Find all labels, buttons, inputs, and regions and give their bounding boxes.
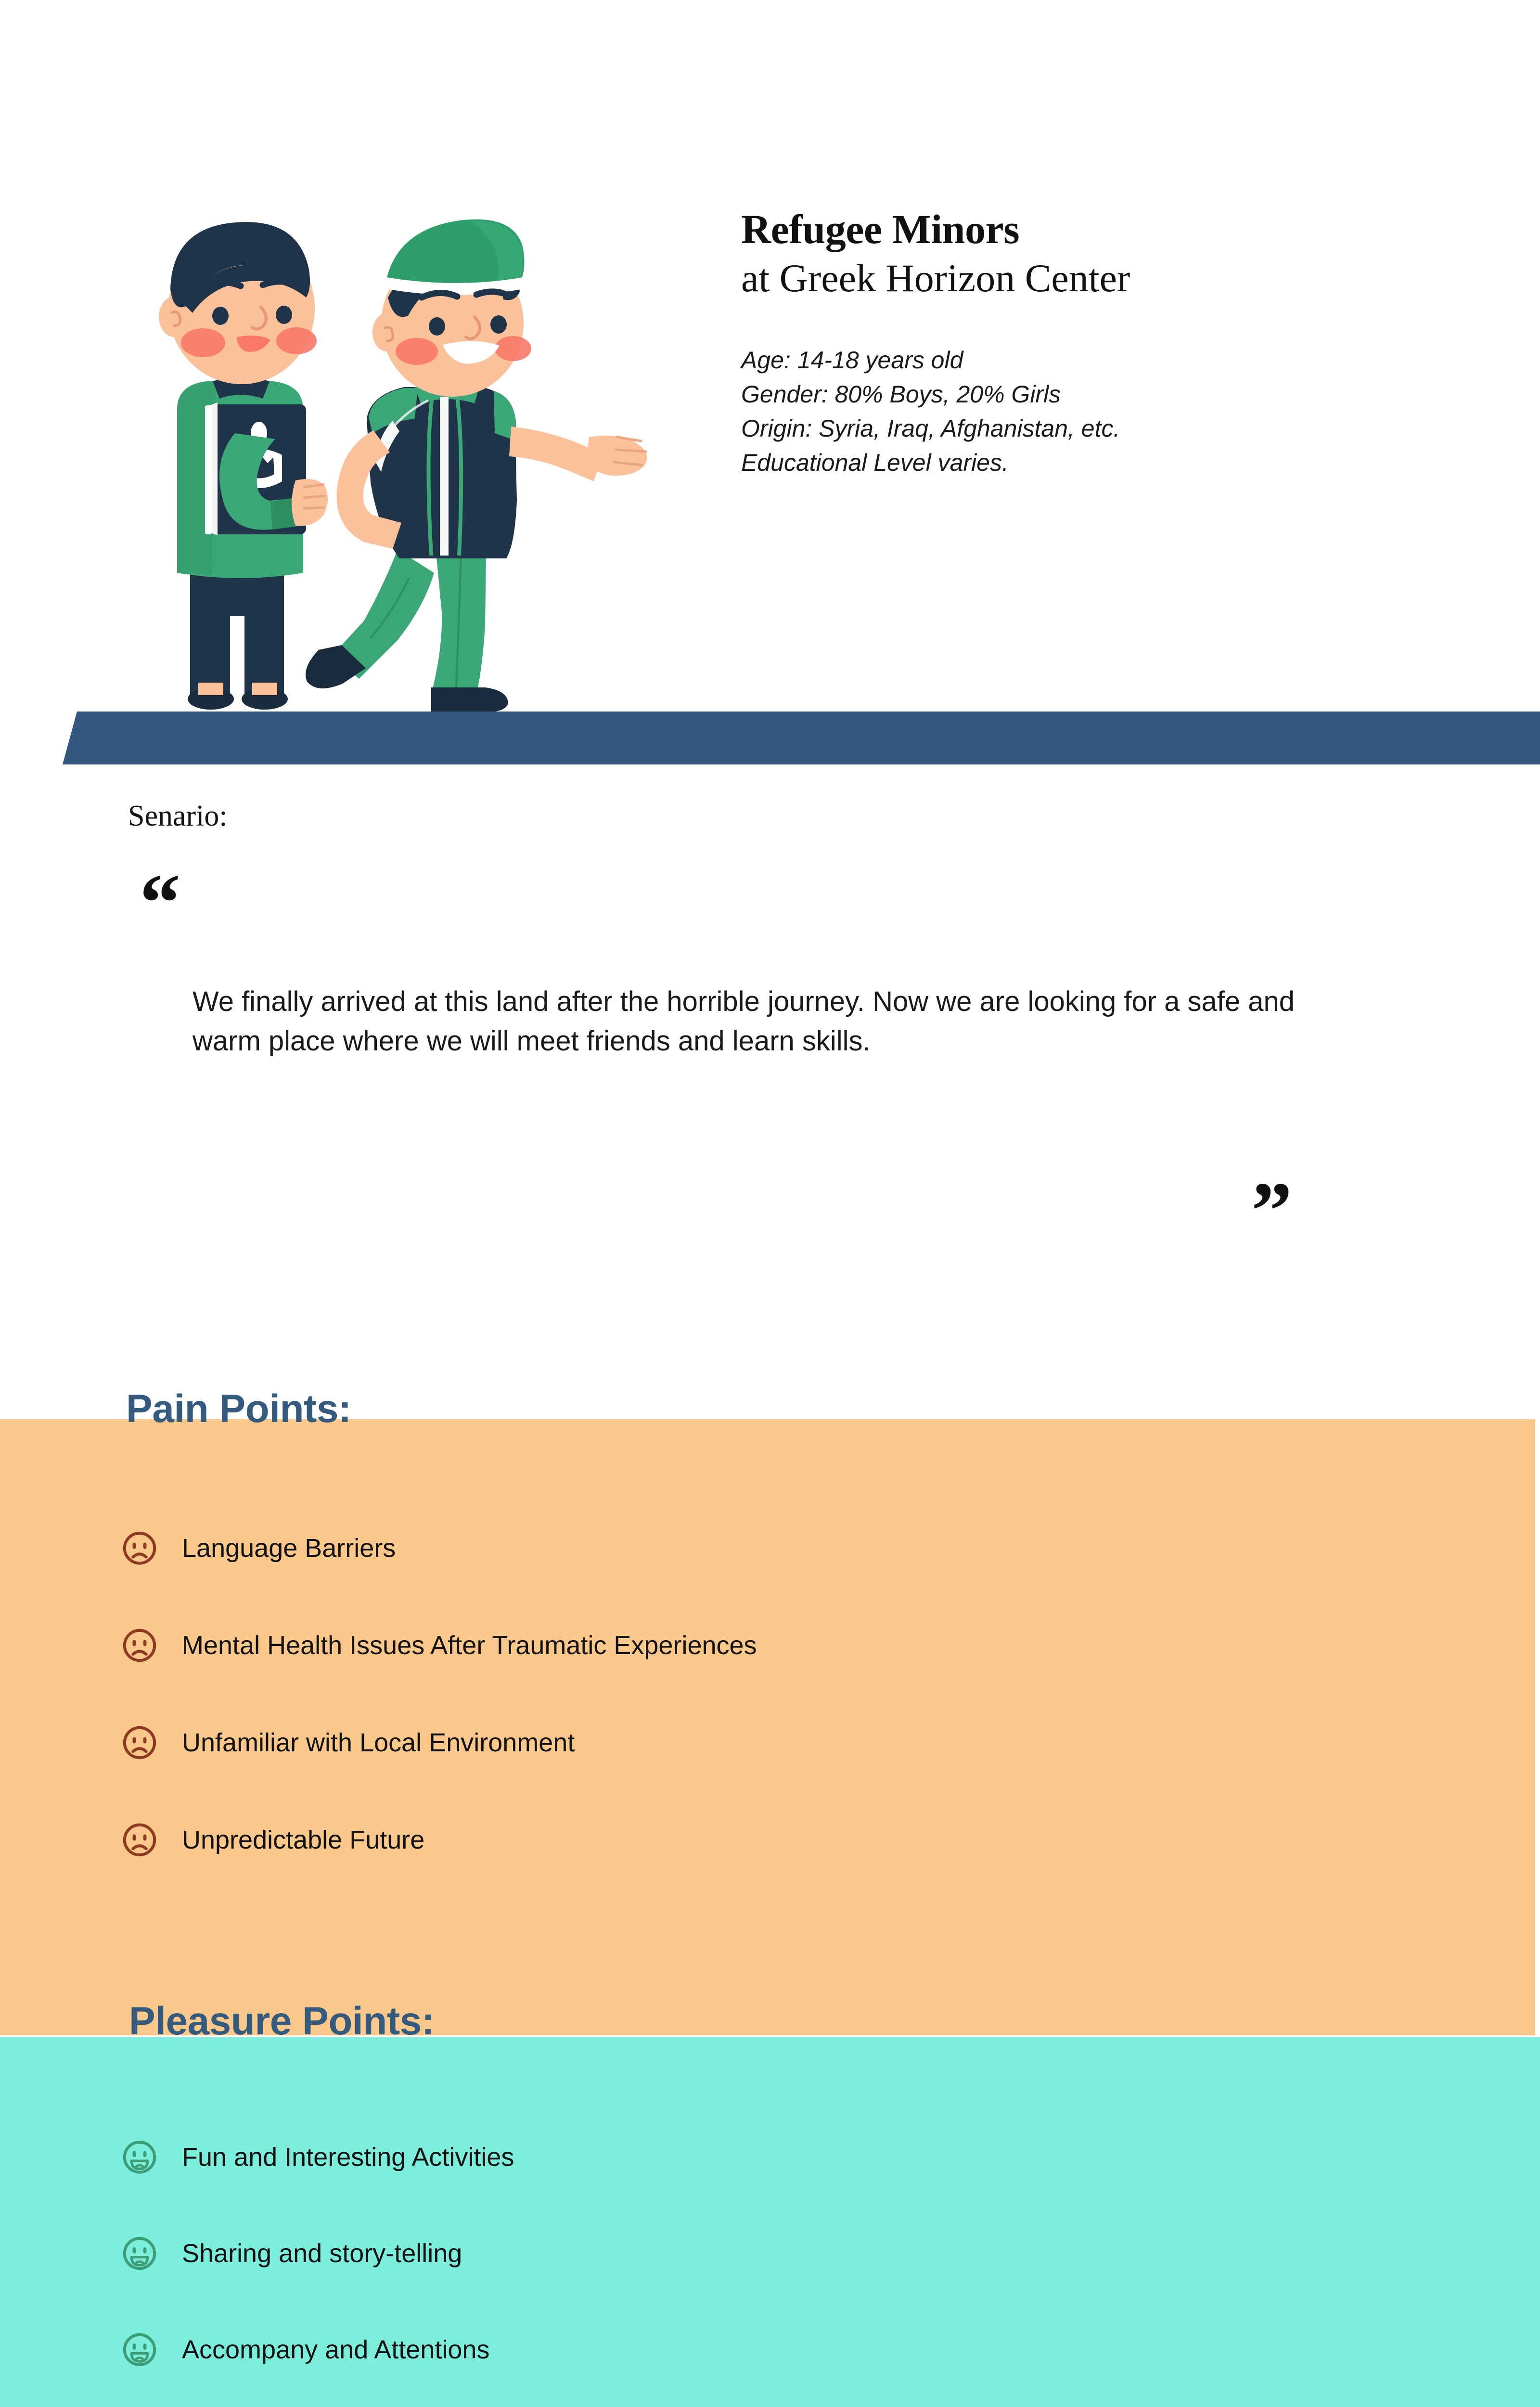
page-subtitle: at Greek Horizon Center [741, 255, 1463, 302]
pain-point-label: Unfamiliar with Local Environment [182, 1728, 575, 1758]
demographic-age: Age: 14-18 years old [741, 343, 1463, 377]
header-navy-banner [63, 712, 1540, 764]
list-item: Unfamiliar with Local Environment [121, 1711, 1373, 1774]
pleasure-points-list: Fun and Interesting Activities Sharing a… [121, 2125, 1373, 2407]
list-item: Accompany and Attentions [121, 2318, 1373, 2381]
sad-face-icon [121, 1627, 158, 1664]
list-item: Sharing and story-telling [121, 2222, 1373, 2285]
pain-points-heading: Pain Points: [126, 1386, 351, 1432]
list-item: Unpredictable Future [121, 1808, 1373, 1872]
boy-waving-walking [306, 220, 647, 712]
close-quote-icon: ” [1251, 1170, 1292, 1252]
sad-face-icon [121, 1530, 158, 1566]
scenario-quote-text: We finally arrived at this land after th… [192, 982, 1347, 1061]
list-item: Mental Health Issues After Traumatic Exp… [121, 1614, 1373, 1677]
list-item: Language Barriers [121, 1516, 1373, 1580]
happy-face-icon [121, 2235, 158, 2272]
persona-infographic-page: Refugee Minors at Greek Horizon Center A… [0, 0, 1540, 2407]
two-refugee-boys-illustration [91, 193, 659, 722]
pleasure-points-heading: Pleasure Points: [129, 1999, 435, 2044]
pain-point-label: Mental Health Issues After Traumatic Exp… [182, 1631, 757, 1660]
demographic-education: Educational Level varies. [741, 446, 1463, 480]
persona-header: Refugee Minors at Greek Horizon Center A… [741, 207, 1463, 480]
demographic-origin: Origin: Syria, Iraq, Afghanistan, etc. [741, 412, 1463, 446]
scenario-label: Senario: [128, 799, 228, 833]
happy-face-icon [121, 2331, 158, 2368]
pain-point-label: Language Barriers [182, 1533, 396, 1563]
page-title: Refugee Minors [741, 207, 1463, 252]
sad-face-icon [121, 1822, 158, 1858]
pleasure-point-label: Accompany and Attentions [182, 2335, 489, 2365]
sad-face-icon [121, 1724, 158, 1761]
boy-holding-book [159, 222, 328, 710]
happy-face-icon [121, 2139, 158, 2175]
pain-points-list: Language Barriers Mental Health Issues A… [121, 1516, 1373, 1905]
demographic-gender: Gender: 80% Boys, 20% Girls [741, 377, 1463, 412]
pleasure-point-label: Fun and Interesting Activities [182, 2142, 514, 2172]
pleasure-point-label: Sharing and story-telling [182, 2239, 462, 2268]
list-item: Fun and Interesting Activities [121, 2125, 1373, 2189]
open-quote-icon: “ [140, 862, 180, 944]
demographics-block: Age: 14-18 years old Gender: 80% Boys, 2… [741, 343, 1463, 480]
pain-point-label: Unpredictable Future [182, 1825, 424, 1855]
